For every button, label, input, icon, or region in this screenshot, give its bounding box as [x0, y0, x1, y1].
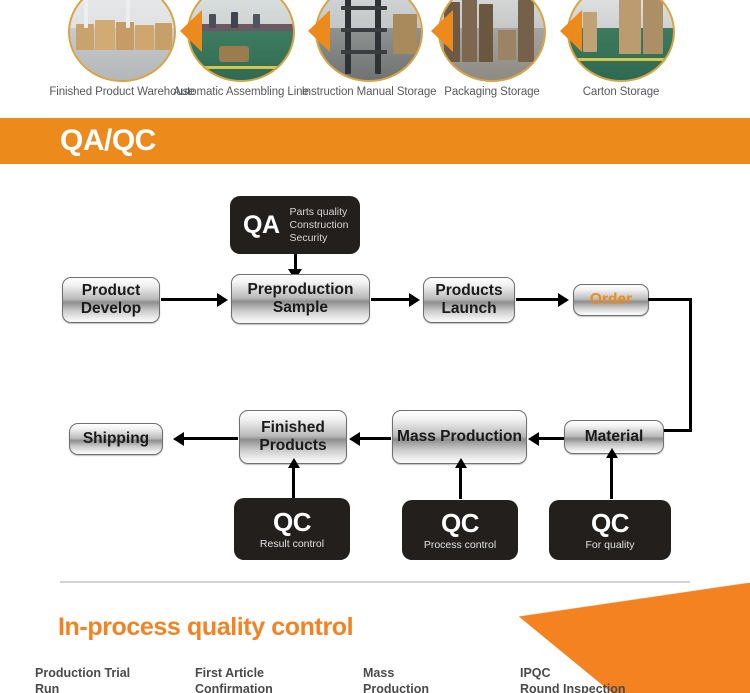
qa-line-2: Construction [290, 219, 349, 231]
qa-qc-process-page: Finished Product Warehouse Automatic Ass… [0, 0, 750, 693]
manual-storage-photo-icon [315, 0, 423, 82]
column-mass-production: Mass Production [363, 665, 518, 693]
node-label: Mass Production [397, 428, 522, 446]
connector-order-right [648, 298, 692, 301]
qc-box-process-control[interactable]: QC Process control [402, 500, 518, 560]
column-line-1: IPQC [520, 666, 551, 680]
assembly-line-photo-icon [187, 0, 295, 82]
connector-sample-to-launch [371, 298, 411, 301]
qc-box-for-quality[interactable]: QC For quality [549, 500, 671, 560]
qa-line-1: Parts quality [290, 206, 348, 218]
column-ipqc-round-inspection: IPQC Round Inspection [520, 665, 675, 693]
arrow-left-icon [560, 10, 582, 52]
node-product-develop[interactable]: Product Develop [62, 277, 160, 323]
node-label: Shipping [83, 430, 149, 448]
arrowhead-up-icon [606, 448, 618, 458]
connector-launch-to-order [516, 298, 560, 301]
node-label: Products Launch [424, 282, 514, 318]
connector-qc3-up [610, 457, 613, 499]
qc-subtitle: For quality [585, 538, 634, 552]
arrowhead-up-icon [455, 458, 467, 468]
connector-finished-to-shipping [184, 437, 238, 440]
qc-abbreviation: QC [273, 508, 311, 536]
packaging-storage-photo-icon [438, 0, 546, 82]
photo-item-carton-storage[interactable]: Carton Storage [567, 0, 675, 82]
arrow-left-icon [431, 10, 453, 52]
arrowhead-right-icon [409, 293, 420, 307]
arrow-left-icon [180, 10, 202, 52]
node-label: Finished Products [240, 419, 346, 455]
connector-material-to-mass [539, 437, 564, 440]
node-label: Material [585, 428, 644, 446]
banner-title: QA/QC [60, 124, 156, 158]
photo-label: Carton Storage [546, 86, 696, 100]
qc-box-result-control[interactable]: QC Result control [234, 498, 350, 560]
arrowhead-left-icon [173, 432, 184, 446]
node-label: Order [590, 291, 632, 309]
qa-info-box[interactable]: QA Parts quality Construction Security [230, 196, 360, 254]
arrowhead-up-icon [288, 458, 300, 468]
arrowhead-right-icon [217, 293, 228, 307]
arrowhead-left-icon [349, 432, 360, 446]
column-first-article-confirmation: First Article Confirmation [195, 665, 350, 693]
column-line-1: Production Trial [35, 666, 130, 680]
connector-mass-to-finished [360, 437, 391, 440]
connector-order-down [689, 298, 692, 432]
arrowhead-left-icon [528, 432, 539, 446]
qc-abbreviation: QC [591, 509, 629, 537]
column-production-trial-run: Production Trial Run [35, 665, 190, 693]
photo-item-automatic-assembling-line[interactable]: Automatic Assembling Line [187, 0, 295, 82]
connector-qc2-up [459, 467, 462, 499]
qa-description: Parts quality Construction Security [290, 206, 349, 245]
arrowhead-right-icon [558, 293, 569, 307]
qa-qc-banner: QA/QC [0, 118, 750, 164]
node-shipping[interactable]: Shipping [69, 423, 163, 455]
node-mass-production[interactable]: Mass Production [392, 410, 527, 464]
column-line-2: Run [35, 682, 59, 693]
column-line-2: Production [363, 682, 429, 693]
qc-subtitle: Process control [424, 538, 496, 552]
qc-abbreviation: QC [441, 509, 479, 537]
factory-photo-strip: Finished Product Warehouse Automatic Ass… [0, 0, 750, 118]
connector-develop-to-sample [161, 298, 219, 301]
column-line-1: First Article [195, 666, 264, 680]
process-flowchart: QA Parts quality Construction Security P… [0, 164, 750, 569]
qa-line-3: Security [290, 232, 328, 244]
qc-subtitle: Result control [260, 537, 324, 551]
column-line-1: Mass [363, 666, 394, 680]
carton-storage-photo-icon [567, 0, 675, 82]
photo-item-finished-product-warehouse[interactable]: Finished Product Warehouse [68, 0, 176, 82]
warehouse-photo-icon [68, 0, 176, 82]
qa-abbreviation: QA [243, 211, 280, 240]
arrow-left-icon [308, 10, 330, 52]
in-process-quality-control-section: In-process quality control Production Tr… [0, 569, 750, 693]
connector-qc1-up [292, 467, 295, 499]
section-divider [60, 581, 690, 583]
section-title: In-process quality control [58, 613, 353, 642]
photo-label: Packaging Storage [417, 86, 567, 100]
node-products-launch[interactable]: Products Launch [423, 277, 515, 323]
node-preproduction-sample[interactable]: Preproduction Sample [231, 274, 370, 324]
node-label: Preproduction Sample [232, 281, 369, 317]
column-line-2: Confirmation [195, 682, 273, 693]
node-finished-products[interactable]: Finished Products [239, 410, 347, 464]
node-label: Product Develop [63, 282, 159, 318]
photo-item-packaging-storage[interactable]: Packaging Storage [438, 0, 546, 82]
photo-item-instruction-manual-storage[interactable]: Instruction Manual Storage [315, 0, 423, 82]
column-line-2: Round Inspection [520, 682, 626, 693]
node-order[interactable]: Order [573, 284, 649, 316]
